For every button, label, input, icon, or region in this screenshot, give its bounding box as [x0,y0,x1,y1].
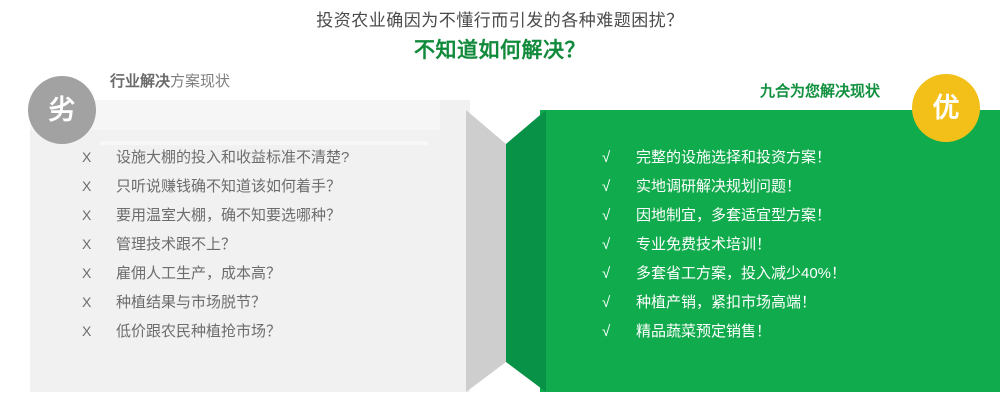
list-item: √ 种植产销，紧扣市场高端！ [602,288,982,317]
list-item: √ 实地调研解决规划问题！ [602,172,982,201]
headline-block: 投资农业确因为不懂行而引发的各种难题困扰？ 不知道如何解决？ [0,8,1000,66]
badge-superior-label: 优 [933,95,960,122]
list-item-label: 精品蔬菜预定销售！ [636,317,771,346]
list-item-label: 要用温室大棚，确不知要选哪种？ [116,201,341,230]
badge-inferior: 劣 [28,76,96,144]
solution-list: √ 完整的设施选择和投资方案！ √ 实地调研解决规划问题！ √ 因地制宜，多套适… [602,143,982,346]
list-item-label: 完整的设施选择和投资方案！ [636,143,831,172]
list-item-label: 多套省工方案，投入减少40%！ [636,259,846,288]
list-item: √ 专业免费技术培训！ [602,230,982,259]
list-item-label: 设施大棚的投入和收益标准不清楚? [116,143,349,172]
check-icon: √ [602,259,636,288]
list-item: √ 因地制宜，多套适宜型方案！ [602,201,982,230]
cross-icon: X [82,201,116,230]
cross-icon: X [82,317,116,346]
list-item: X 低价跟农民种植抢市场？ [82,317,442,346]
list-item-label: 管理技术跟不上？ [116,230,236,259]
cross-icon: X [82,172,116,201]
list-item-label: 只听说赚钱确不知道该如何着手？ [116,172,341,201]
check-icon: √ [602,143,636,172]
list-item: X 雇佣人工生产，成本高？ [82,259,442,288]
problem-list: X 设施大棚的投入和收益标准不清楚? X 只听说赚钱确不知道该如何着手？ X 要… [82,143,442,346]
fold-green-wing [500,96,576,396]
cross-icon: X [82,259,116,288]
list-item: √ 多套省工方案，投入减少40%！ [602,259,982,288]
list-item-label: 种植产销，紧扣市场高端！ [636,288,816,317]
list-item: √ 精品蔬菜预定销售！ [602,317,982,346]
list-item-label: 专业免费技术培训！ [636,230,771,259]
list-item: X 设施大棚的投入和收益标准不清楚? [82,143,442,172]
list-item-label: 种植结果与市场脱节？ [116,288,266,317]
right-panel-caption: 九合为您解决现状 [760,82,880,102]
list-item: X 只听说赚钱确不知道该如何着手？ [82,172,442,201]
cross-icon: X [82,143,116,172]
check-icon: √ [602,230,636,259]
headline-emphasis: 不知道如何解决？ [0,36,1000,66]
list-item-label: 低价跟农民种植抢市场？ [116,317,281,346]
list-item: X 种植结果与市场脱节？ [82,288,442,317]
comparison-infographic: 投资农业确因为不懂行而引发的各种难题困扰？ 不知道如何解决？ 劣 优 行业解决方… [0,0,1000,416]
cross-icon: X [82,288,116,317]
list-item-label: 因地制宜，多套适宜型方案！ [636,201,831,230]
check-icon: √ [602,317,636,346]
list-item: √ 完整的设施选择和投资方案！ [602,143,982,172]
badge-superior: 优 [912,74,980,142]
check-icon: √ [602,288,636,317]
headline-question: 投资农业确因为不懂行而引发的各种难题困扰？ [0,8,1000,34]
left-panel-caption-strong: 行业解决 [110,73,170,90]
list-item-label: 实地调研解决规划问题！ [636,172,801,201]
left-panel-caption: 行业解决方案现状 [110,72,230,92]
left-panel-caption-rest: 方案现状 [170,73,230,90]
list-item-label: 雇佣人工生产，成本高？ [116,259,281,288]
badge-inferior-label: 劣 [49,97,76,124]
check-icon: √ [602,172,636,201]
check-icon: √ [602,201,636,230]
list-item: X 管理技术跟不上？ [82,230,442,259]
list-item: X 要用温室大棚，确不知要选哪种？ [82,201,442,230]
cross-icon: X [82,230,116,259]
